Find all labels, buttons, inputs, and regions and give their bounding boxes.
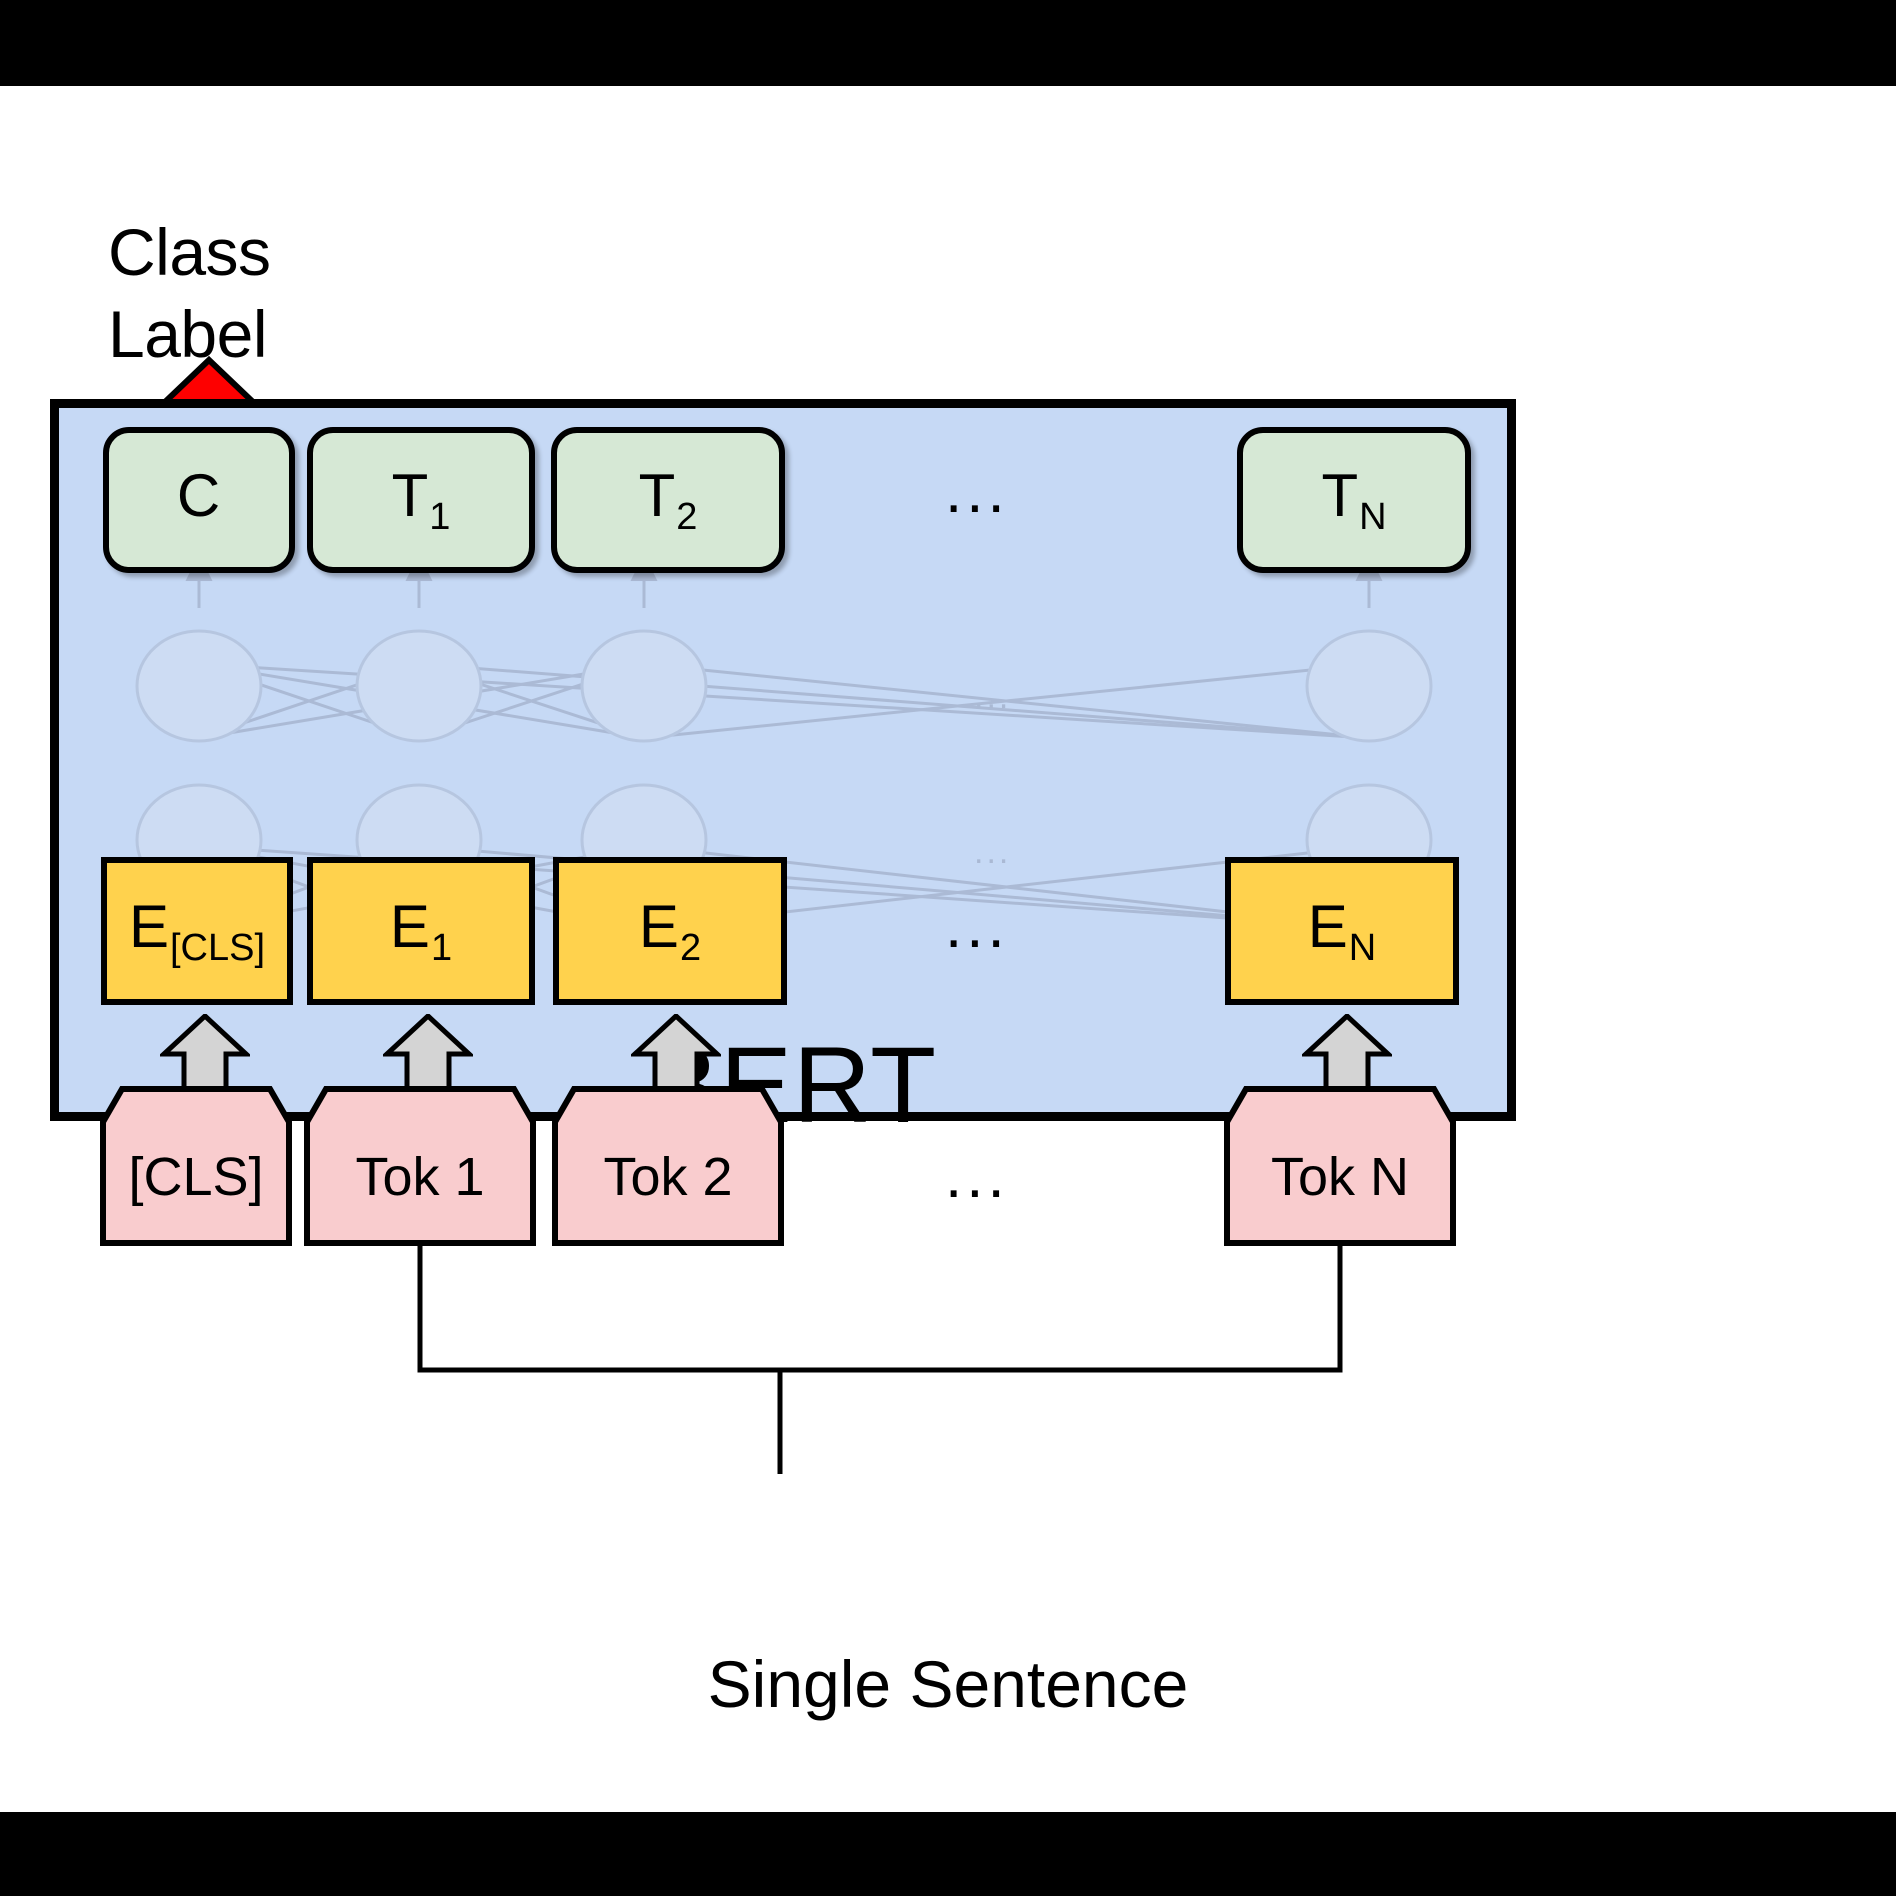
token-box-n[interactable]: Tok N xyxy=(1224,1086,1456,1246)
output-box-tn[interactable]: TN xyxy=(1237,427,1471,573)
embedding-box-1[interactable]: E1 xyxy=(307,857,535,1005)
class-label-text: Class Label xyxy=(108,211,408,375)
output-row-ellipsis: ... xyxy=(945,461,1009,523)
sentence-caption: Single Sentence xyxy=(0,1646,1896,1722)
embedding-box-cls-label: E[CLS] xyxy=(129,892,265,970)
token-box-2[interactable]: Tok 2 xyxy=(552,1086,784,1246)
figure-canvas: Class Label xyxy=(0,0,1896,1896)
embedding-box-2[interactable]: E2 xyxy=(553,857,787,1005)
letterbox-top xyxy=(0,0,1896,86)
internal-ellipsis-lower: ... xyxy=(974,833,1011,871)
embedding-box-cls[interactable]: E[CLS] xyxy=(101,857,293,1005)
embedding-row-ellipsis: ... xyxy=(945,896,1009,958)
token-arrow-n-icon xyxy=(1302,1014,1392,1092)
diagram-area: Class Label xyxy=(0,86,1896,1812)
embedding-box-1-label: E1 xyxy=(390,892,452,970)
output-box-t1[interactable]: T1 xyxy=(307,427,535,573)
output-box-c[interactable]: C xyxy=(103,427,295,573)
token-box-n-label: Tok N xyxy=(1271,1124,1409,1208)
token-arrow-cls-icon xyxy=(160,1014,250,1092)
internal-ellipsis-upper: ... xyxy=(974,678,1011,716)
class-label-line: Class Label xyxy=(108,211,408,375)
token-box-1-label: Tok 1 xyxy=(355,1124,484,1208)
embedding-box-n[interactable]: EN xyxy=(1225,857,1459,1005)
token-box-cls-label: [CLS] xyxy=(128,1124,263,1208)
output-box-t2-label: T2 xyxy=(639,461,698,539)
output-box-t1-label: T1 xyxy=(392,461,451,539)
embedding-box-2-label: E2 xyxy=(639,892,701,970)
token-arrow-1-icon xyxy=(383,1014,473,1092)
token-box-2-label: Tok 2 xyxy=(603,1124,732,1208)
embedding-box-n-label: EN xyxy=(1308,892,1376,970)
token-row-ellipsis: ... xyxy=(945,1146,1009,1208)
token-box-cls[interactable]: [CLS] xyxy=(100,1086,292,1246)
output-box-c-label: C xyxy=(177,461,221,539)
sentence-bracket xyxy=(380,1242,1380,1542)
output-box-tn-label: TN xyxy=(1321,461,1386,539)
output-box-t2[interactable]: T2 xyxy=(551,427,785,573)
token-box-1[interactable]: Tok 1 xyxy=(304,1086,536,1246)
letterbox-bottom xyxy=(0,1812,1896,1896)
token-arrow-2-icon xyxy=(631,1014,721,1092)
